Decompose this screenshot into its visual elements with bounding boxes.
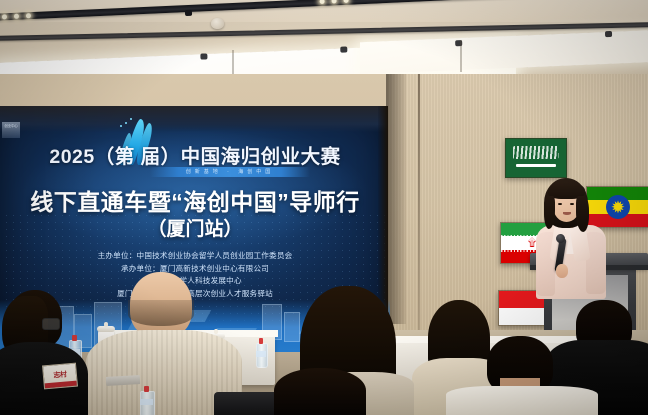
- screen-corner-logo: 创业中心: [2, 122, 20, 138]
- organizer-line: 北京海外学人科技发展中心: [40, 275, 350, 288]
- screen-tagline: 创新基地 · 海创中国: [150, 167, 310, 177]
- ethiopia-star-icon: ✹: [610, 199, 627, 216]
- laptop-device: [106, 375, 140, 386]
- screen-title-line1: 2025（第 届）中国海归创业大赛: [0, 140, 390, 169]
- list-item: [128, 300, 194, 326]
- screen-organizers: 主办单位：中国技术创业协会留学人员创业园工作委员会 承办单位：厦门高新技术创业中…: [40, 250, 350, 300]
- screen-title-line3: （厦门站）: [0, 214, 390, 241]
- presenter-speaker: [536, 178, 608, 298]
- list-item: [274, 368, 366, 415]
- name-card: 志村: [42, 363, 78, 390]
- saudi-arabia-flag: [505, 138, 567, 178]
- water-bottle: [140, 386, 153, 415]
- panel-seam: [460, 40, 462, 72]
- organizer-line: 主办单位：中国技术创业协会留学人员创业园工作委员会: [40, 250, 350, 263]
- eyeglasses-icon: [42, 318, 60, 330]
- wall-seam: [418, 74, 420, 342]
- smoke-detector-icon: [211, 18, 224, 29]
- list-item: [446, 386, 598, 415]
- organizer-line: 厦门火炬高新区海外高层次创业人才服务驿站: [40, 288, 350, 301]
- conference-photo: 创业中心 2025（第 届）中国海归创业大赛 创新基地 · 海创中国 线下直通车…: [0, 0, 648, 415]
- screen-title-line2: 线下直通车暨“海创中国”导师行: [0, 183, 390, 217]
- screen-top-shadow: [0, 106, 388, 132]
- water-bottle: [256, 338, 266, 366]
- organizer-line: 承办单位：厦门高新技术创业中心有限公司: [40, 263, 350, 276]
